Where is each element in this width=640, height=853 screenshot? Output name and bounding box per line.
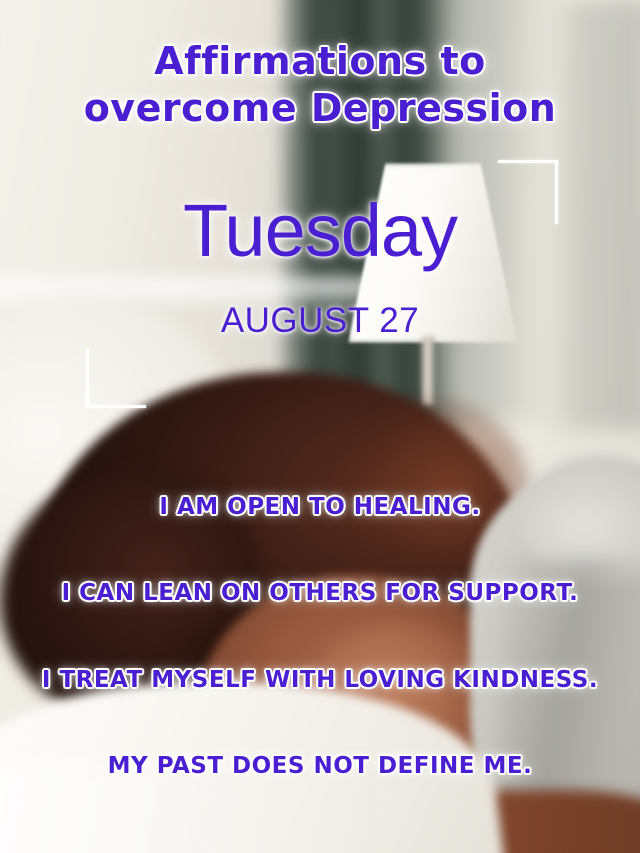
title-line-1: Affirmations to	[30, 38, 610, 85]
affirmation-item: I CAN LEAN ON OTHERS FOR SUPPORT.	[22, 578, 618, 608]
affirmation-item: I AM OPEN TO HEALING.	[22, 492, 618, 522]
affirmation-list: I AM OPEN TO HEALING. I CAN LEAN ON OTHE…	[0, 492, 640, 781]
affirmation-poster: Affirmations to overcome Depression Tues…	[0, 0, 640, 853]
weekday-label: Tuesday	[0, 194, 640, 268]
affirmation-item: I TREAT MYSELF WITH LOVING KINDNESS.	[22, 665, 618, 695]
affirmation-item: MY PAST DOES NOT DEFINE ME.	[22, 751, 618, 781]
text-overlay: Affirmations to overcome Depression Tues…	[0, 0, 640, 853]
title-line-2: overcome Depression	[30, 85, 610, 132]
date-label: AUGUST 27	[0, 303, 640, 338]
page-title: Affirmations to overcome Depression	[0, 38, 640, 132]
